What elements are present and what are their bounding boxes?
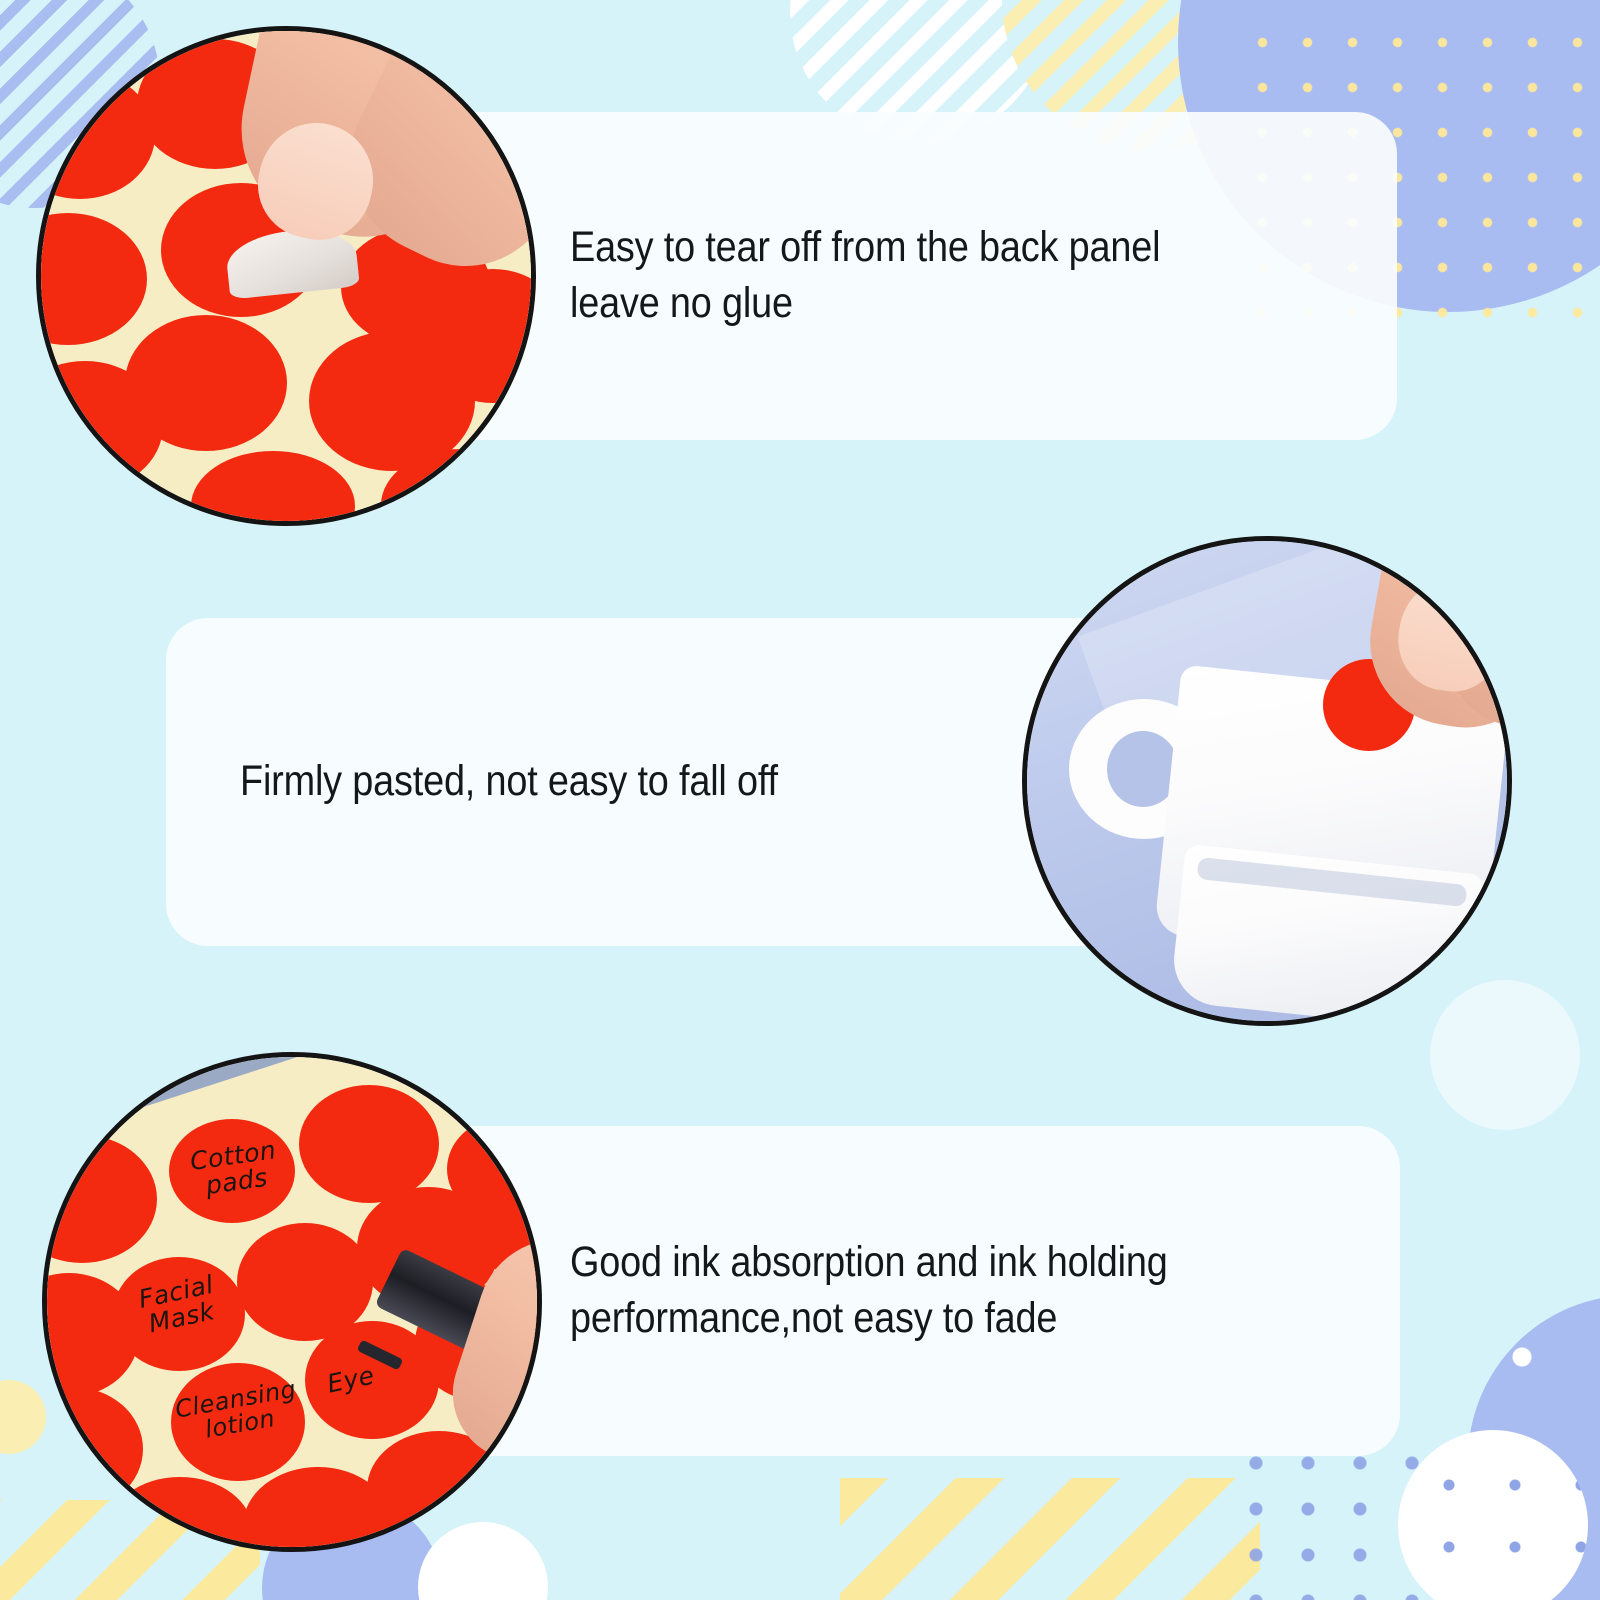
yellow-stripes-bottom-decoration (840, 1478, 1260, 1600)
peeling-red-dot-sticker-photo (36, 26, 536, 526)
writing-on-red-dot-stickers-photo: Cotton pads Facial Mask Cleansing lotion… (42, 1052, 542, 1552)
feature-1-text: Easy to tear off from the back panel lea… (570, 220, 1160, 332)
sticker-dot (299, 1085, 439, 1203)
sticker-dot (125, 315, 287, 451)
feature-2-text: Firmly pasted, not easy to fall off (240, 754, 778, 810)
infographic-canvas: Easy to tear off from the back panel lea… (0, 0, 1600, 1600)
red-dot-sticker-on-white-cup-photo (1022, 536, 1512, 1026)
periwinkle-circle-bottom-right (1468, 1295, 1600, 1600)
feature-3-text: Good ink absorption and ink holding perf… (570, 1235, 1168, 1347)
yellow-circle-left-decoration (0, 1380, 46, 1454)
white-circle-bottom-right (1398, 1430, 1588, 1600)
blue-dot-cluster-decoration (1230, 1440, 1460, 1600)
